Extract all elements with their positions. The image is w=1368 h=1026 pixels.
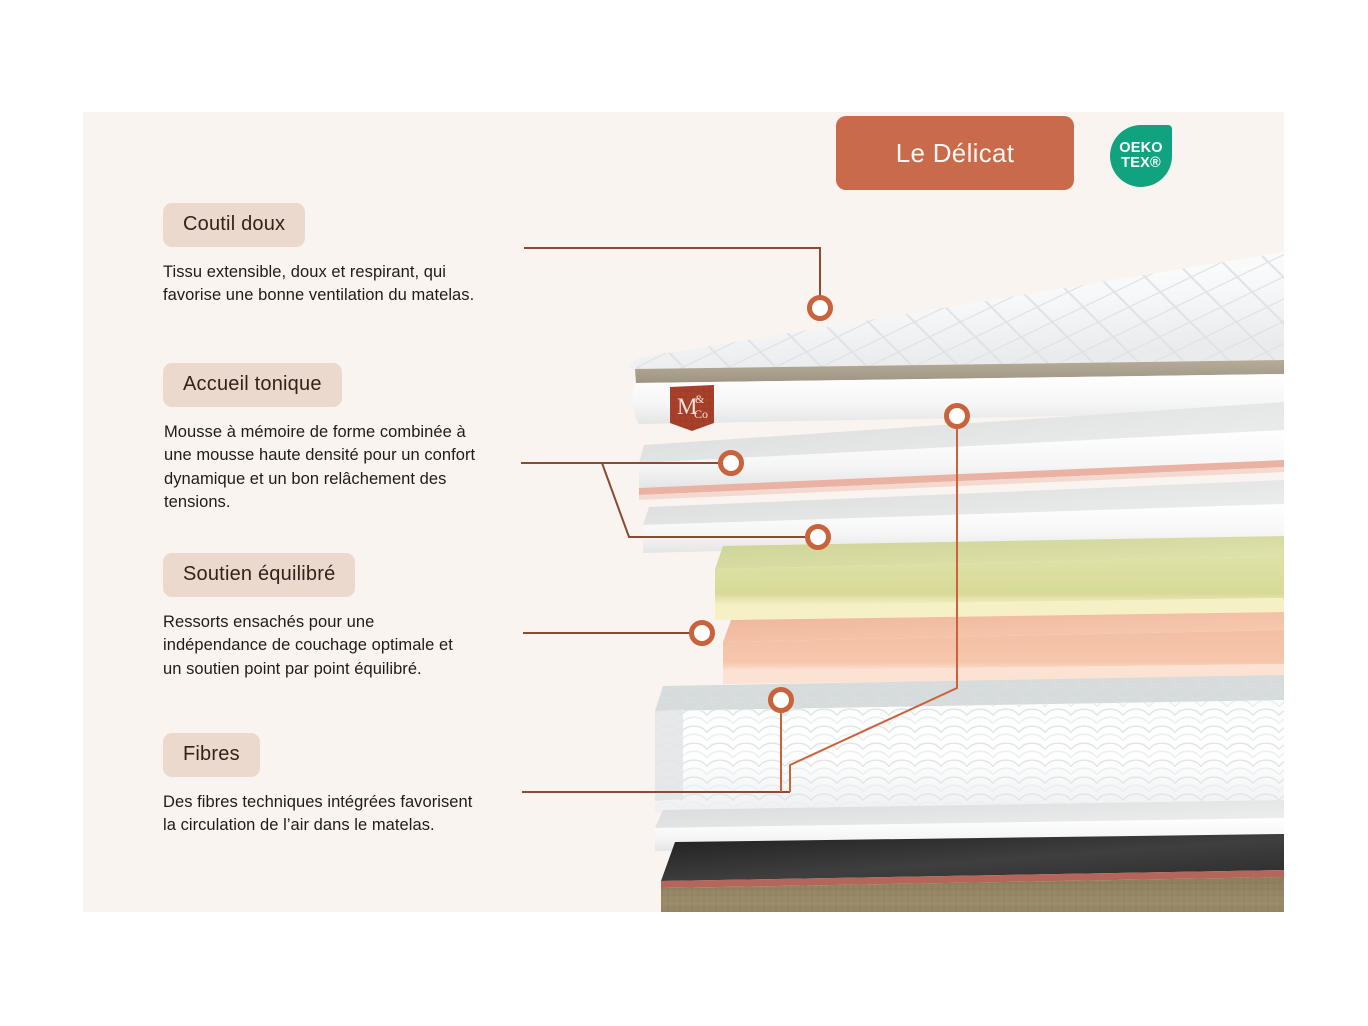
layer-foam-green bbox=[715, 536, 1284, 620]
feature-block-soutien: Soutien équilibré Ressorts ensachés pour… bbox=[163, 553, 543, 681]
oeko-tex-badge: OEKO TEX® bbox=[1110, 125, 1172, 187]
brand-tag-mco: M & Co bbox=[670, 385, 714, 431]
feature-block-fibres: Fibres Des fibres techniques intégrées f… bbox=[163, 733, 543, 838]
feature-block-accueil: Accueil tonique Mousse à mémoire de form… bbox=[163, 363, 563, 515]
product-title: Le Délicat bbox=[896, 138, 1015, 169]
oeko-tex-line1: OEKO bbox=[1119, 141, 1163, 156]
layer-quilted-cover bbox=[629, 252, 1284, 424]
marker-springs[interactable] bbox=[689, 620, 715, 646]
feature-description-soutien: Ressorts ensachés pour une indépendance … bbox=[163, 611, 543, 681]
svg-text:&: & bbox=[695, 392, 705, 406]
feature-chip-soutien: Soutien équilibré bbox=[163, 553, 355, 597]
feature-description-fibres: Des fibres techniques intégrées favorise… bbox=[163, 791, 543, 838]
marker-base-panel[interactable] bbox=[768, 687, 794, 713]
layer-base-fibres bbox=[661, 834, 1284, 912]
feature-block-coutil: Coutil doux Tissu extensible, doux et re… bbox=[163, 203, 543, 308]
feature-chip-fibres: Fibres bbox=[163, 733, 260, 777]
marker-comfort-panel[interactable] bbox=[944, 403, 970, 429]
oeko-tex-line2: TEX® bbox=[1121, 156, 1161, 171]
product-title-badge: Le Délicat bbox=[836, 116, 1074, 190]
feature-description-accueil: Mousse à mémoire de forme combinée à une… bbox=[164, 421, 563, 515]
svg-text:Co: Co bbox=[694, 407, 708, 421]
layer-pocket-springs bbox=[655, 675, 1284, 812]
marker-coutil[interactable] bbox=[807, 295, 833, 321]
marker-foam-green[interactable] bbox=[718, 450, 744, 476]
feature-chip-coutil: Coutil doux bbox=[163, 203, 305, 247]
product-layers-card: M & Co bbox=[83, 112, 1284, 912]
infographic-stage: M & Co bbox=[0, 0, 1368, 1026]
feature-chip-accueil: Accueil tonique bbox=[163, 363, 342, 407]
marker-foam-peach[interactable] bbox=[805, 524, 831, 550]
feature-description-coutil: Tissu extensible, doux et respirant, qui… bbox=[163, 261, 543, 308]
layer-foam-memory-peach bbox=[723, 612, 1284, 684]
